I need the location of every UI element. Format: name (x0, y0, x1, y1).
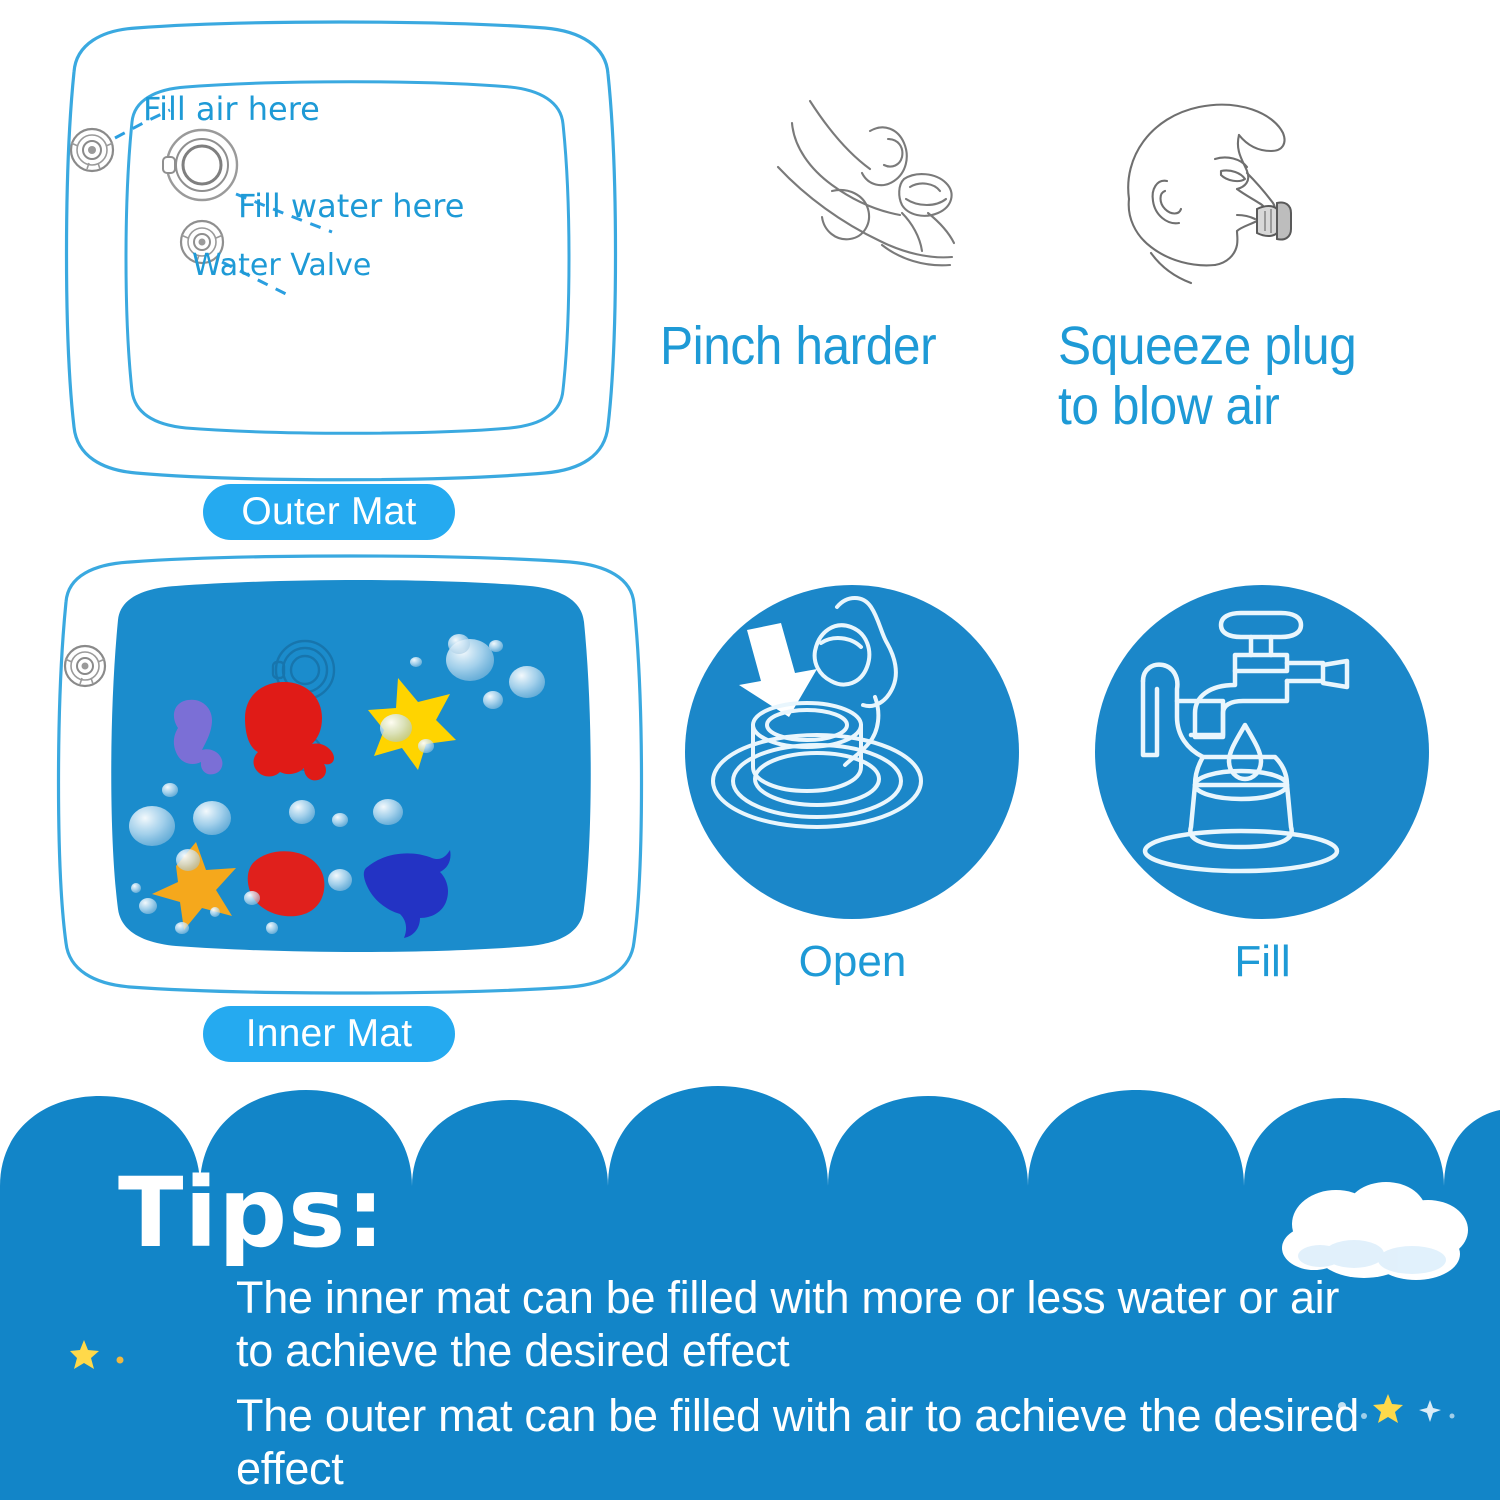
callout-fill-air-here: Fill air here (143, 90, 320, 128)
caption-squeeze-plug-line1: Squeeze plug (1058, 318, 1356, 375)
cloud-icon (1276, 1182, 1486, 1292)
blow-air-head-sketch (1095, 95, 1375, 315)
badge-outer-mat: Outer Mat (203, 484, 455, 540)
mouth-plug-icon (1257, 202, 1291, 239)
step-fill: Fill (1095, 585, 1430, 995)
air-valve-icon (65, 646, 105, 686)
air-valve-icon (71, 129, 113, 171)
tips-line-2: The outer mat can be filled with air to … (236, 1390, 1366, 1495)
valve-open-icon (685, 585, 1020, 925)
caption-pinch-harder: Pinch harder (660, 318, 936, 375)
callout-fill-water-here: Fill water here (238, 187, 464, 225)
caption-squeeze-plug-line2: to blow air (1058, 378, 1279, 435)
tips-line-1: The inner mat can be filled with more or… (236, 1272, 1366, 1377)
tips-title: Tips: (118, 1157, 386, 1269)
label-open: Open (685, 937, 1020, 987)
star-sparkle-icon (70, 1336, 140, 1376)
instruction-sheet: Fill air here Fill water here Water Valv… (0, 0, 1500, 1500)
faucet-fill-icon (1095, 585, 1430, 925)
badge-inner-mat: Inner Mat (203, 1006, 455, 1062)
pinch-plug-sketch (770, 95, 1030, 305)
star-sparkle-icon (1330, 1386, 1460, 1436)
water-fill-port-icon (163, 130, 237, 200)
callout-water-valve: Water Valve (192, 248, 371, 283)
step-open: Open (685, 585, 1020, 995)
label-fill: Fill (1095, 937, 1430, 987)
inner-mat-diagram (40, 550, 660, 1000)
